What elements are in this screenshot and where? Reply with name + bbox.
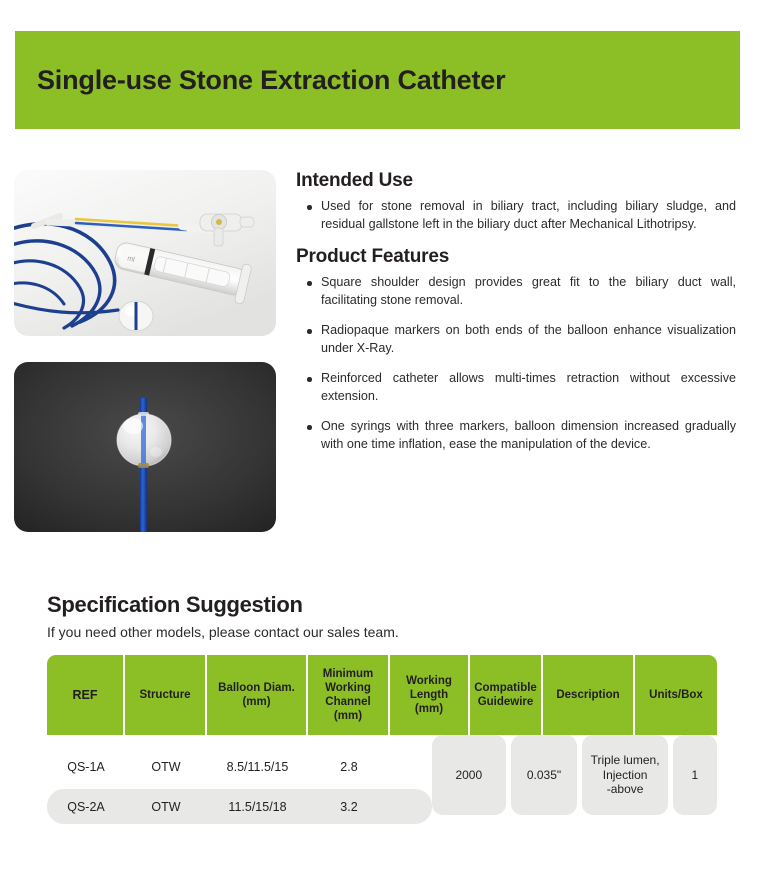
table-header-minimum-working-channel: Minimum Working Channel (mm) [308, 655, 390, 735]
specification-title: Specification Suggestion [47, 592, 717, 618]
list-item: Radiopaque markers on both ends of the b… [296, 322, 736, 357]
specification-subtitle: If you need other models, please contact… [47, 624, 717, 640]
cell-line: Injection [603, 768, 648, 782]
specification-section-header: Specification Suggestion If you need oth… [47, 592, 717, 640]
header-line: Working [325, 682, 371, 694]
header-line: (mm) [415, 703, 443, 715]
intended-use-list: Used for stone removal in biliary tract,… [296, 198, 736, 233]
inflated-balloon-illustration [14, 362, 276, 532]
cell-ref: QS-1A [47, 760, 125, 774]
header-line: Channel [325, 696, 370, 708]
cell-minimum-working-channel: 3.2 [308, 800, 390, 814]
table-header-structure: Structure [125, 655, 207, 735]
header-line: Balloon Diam. [218, 682, 295, 694]
table-header-working-length: Working Length (mm) [390, 655, 470, 735]
cell-structure: OTW [125, 760, 207, 774]
catheter-kit-photo: ml [14, 170, 276, 336]
specification-table: REF Structure Balloon Diam. (mm) Minimum… [47, 655, 717, 829]
cell-balloon-diameter: 11.5/15/18 [207, 800, 308, 814]
table-header-row: REF Structure Balloon Diam. (mm) Minimum… [47, 655, 717, 735]
catheter-kit-illustration: ml [14, 170, 276, 336]
product-features-heading: Product Features [296, 246, 736, 268]
table-header-balloon-diameter: Balloon Diam. (mm) [207, 655, 308, 735]
page-header-banner: Single-use Stone Extraction Catheter [15, 31, 740, 129]
cell-units-per-box: 1 [673, 735, 717, 815]
list-item: Square shoulder design provides great fi… [296, 274, 736, 309]
intended-use-heading: Intended Use [296, 170, 736, 192]
cell-minimum-working-channel: 2.8 [308, 760, 390, 774]
inflated-balloon-photo [14, 362, 276, 532]
header-line: Compatible [474, 682, 537, 694]
header-line: (mm) [242, 696, 270, 708]
cell-structure: OTW [125, 800, 207, 814]
cell-working-length: 2000 [432, 735, 506, 815]
product-features-list: Square shoulder design provides great fi… [296, 274, 736, 453]
header-line: Minimum [323, 668, 373, 680]
table-header-ref: REF [47, 655, 125, 735]
table-header-compatible-guidewire: Compatible Guidewire [470, 655, 543, 735]
table-header-units-per-box: Units/Box [635, 655, 717, 735]
cell-line: -above [607, 782, 644, 796]
table-merged-columns: 2000 0.035" Triple lumen, Injection -abo… [432, 735, 717, 815]
cell-description: Triple lumen, Injection -above [582, 735, 667, 815]
table-body: QS-1A OTW 8.5/11.5/15 2.8 QS-2A OTW 11.5… [47, 735, 717, 829]
header-line: Working [406, 675, 452, 687]
cell-line: Triple lumen, [591, 753, 660, 767]
cell-ref: QS-2A [47, 800, 125, 814]
header-line: Guidewire [478, 696, 534, 708]
cell-compatible-guidewire: 0.035" [511, 735, 578, 815]
table-header-description: Description [543, 655, 635, 735]
list-item: Reinforced catheter allows multi-times r… [296, 370, 736, 405]
cell-balloon-diameter: 8.5/11.5/15 [207, 760, 308, 774]
list-item: One syrings with three markers, balloon … [296, 418, 736, 453]
list-item: Used for stone removal in biliary tract,… [296, 198, 736, 233]
table-row: QS-2A OTW 11.5/15/18 3.2 [47, 789, 432, 824]
table-left-columns: QS-1A OTW 8.5/11.5/15 2.8 QS-2A OTW 11.5… [47, 735, 432, 824]
table-row: QS-1A OTW 8.5/11.5/15 2.8 [47, 749, 432, 784]
product-info-column: Intended Use Used for stone removal in b… [296, 170, 736, 466]
page-title: Single-use Stone Extraction Catheter [37, 65, 505, 96]
header-line: (mm) [334, 710, 362, 722]
header-line: Length [410, 689, 448, 701]
